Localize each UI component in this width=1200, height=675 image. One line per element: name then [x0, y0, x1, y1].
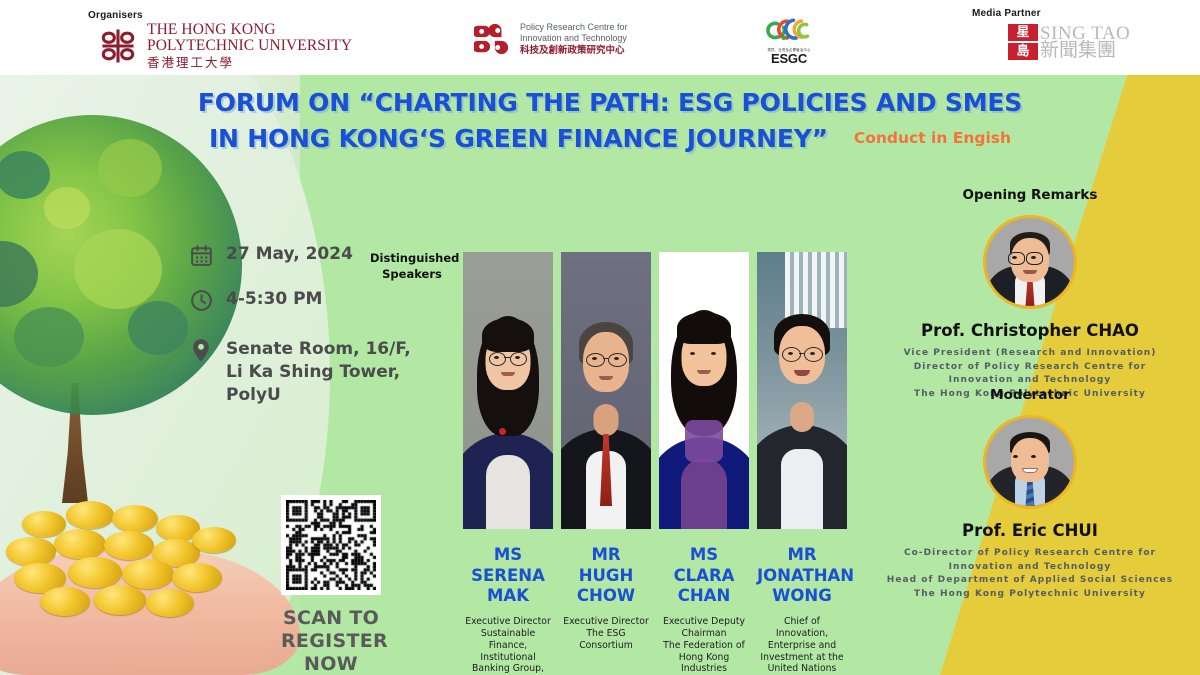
polyu-logo: THE HONG KONG POLYTECHNIC UNIVERSITY 香港理… — [96, 22, 352, 69]
speaker-role: Executive Director Sustainable Finance, … — [463, 616, 553, 675]
singtao-char-island: 島 — [1008, 43, 1038, 60]
moderator-heading: Moderator — [880, 387, 1180, 403]
speaker-last-name: MAK — [463, 586, 553, 607]
registration-block: SCAN TO REGISTER NOW — [281, 495, 381, 675]
speaker-role: Executive Deputy Chairman The Federation… — [659, 616, 749, 675]
title-line-1: FORUM ON “CHARTING THE PATH: ESG POLICIE… — [180, 85, 1040, 121]
event-time: 4-5:30 PM — [226, 285, 322, 311]
speaker-last-name: WONG — [757, 586, 847, 607]
speaker-first-name: CLARA — [659, 566, 749, 587]
speaker-card: MR JONATHAN WONG Chief of Innovation, En… — [757, 252, 847, 675]
clock-icon — [186, 285, 216, 315]
avatar — [983, 415, 1077, 509]
singtao-char-star: 星 — [1008, 24, 1038, 41]
speaker-honorific: MS — [659, 545, 749, 566]
polyu-name-line2: POLYTECHNIC UNIVERSITY — [147, 38, 352, 54]
polyu-name-line1: THE HONG KONG — [147, 22, 352, 38]
singtao-logo: 星 島 SING TAO 新聞集團 — [1008, 24, 1130, 61]
media-partner-label: Media Partner — [972, 8, 1041, 19]
speaker-first-name: JONATHAN — [757, 566, 847, 587]
speaker-card: MS SERENA MAK Executive Director Sustain… — [463, 252, 553, 675]
poster-body: FORUM ON “CHARTING THE PATH: ESG POLICIE… — [0, 75, 1200, 675]
esgc-mark-icon — [766, 14, 812, 46]
title-line-2: IN HONG KONG‘S GREEN FINANCE JOURNEY” — [209, 121, 828, 157]
polyu-mark-icon — [96, 24, 140, 68]
speakers-list: MS SERENA MAK Executive Director Sustain… — [463, 252, 847, 675]
speaker-name: MR JONATHAN WONG — [757, 545, 847, 607]
moderator-section: Moderator Prof. Eric CHUI Co-Director of… — [880, 387, 1180, 602]
speaker-honorific: MR — [561, 545, 651, 566]
speaker-last-name: CHAN — [659, 586, 749, 607]
speaker-photo — [659, 252, 749, 529]
singtao-chinese: 新聞集團 — [1040, 41, 1130, 60]
speaker-card: MR HUGH CHOW Executive Director The ESG … — [561, 252, 651, 675]
prcit-logo: Policy Research Centre for Innovation an… — [474, 22, 628, 57]
organisers-label: Organisers — [88, 10, 143, 21]
prcit-line1: Policy Research Centre for — [520, 22, 628, 33]
prcit-logo-text: Policy Research Centre for Innovation an… — [520, 22, 628, 57]
speaker-name: MS SERENA MAK — [463, 545, 553, 607]
event-date: 27 May, 2024 — [226, 240, 353, 266]
opening-remarks-name: Prof. Christopher CHAO — [880, 321, 1180, 340]
distinguished-speakers-label: Distinguished Speakers — [370, 251, 454, 282]
moderator-role: Co-Director of Policy Research Centre fo… — [880, 547, 1180, 602]
speaker-photo — [757, 252, 847, 529]
singtao-mark-icon: 星 島 — [1008, 24, 1038, 60]
calendar-icon — [186, 240, 216, 270]
location-pin-icon — [186, 335, 216, 365]
avatar — [983, 215, 1077, 309]
speaker-first-name: SERENA — [463, 566, 553, 587]
prcit-line2: Innovation and Technology — [520, 33, 628, 44]
speaker-last-name: CHOW — [561, 586, 651, 607]
opening-remarks-section: Opening Remarks Prof. Christopher CHAO V… — [880, 187, 1180, 402]
language-note: Conduct in Engish — [854, 129, 1011, 147]
qr-code[interactable] — [281, 495, 381, 595]
polyu-name-chinese: 香港理工大學 — [147, 56, 352, 69]
poster-title: FORUM ON “CHARTING THE PATH: ESG POLICIE… — [180, 85, 1040, 156]
event-time-row: 4-5:30 PM — [186, 285, 456, 315]
event-poster: Organisers THE HONG KONG POLYTECHN — [0, 0, 1200, 675]
speaker-photo — [561, 252, 651, 529]
speaker-photo — [463, 252, 553, 529]
speaker-first-name: HUGH — [561, 566, 651, 587]
hand-with-coins-illustration — [0, 445, 310, 675]
speaker-card: MS CLARA CHAN Executive Deputy Chairman … — [659, 252, 749, 675]
esgc-wordmark: ESGC — [771, 52, 807, 65]
event-venue: Senate Room, 16/F, Li Ka Shing Tower, Po… — [226, 335, 456, 406]
singtao-logo-text: SING TAO 新聞集團 — [1040, 24, 1130, 61]
logo-header: Organisers THE HONG KONG POLYTECHN — [0, 0, 1200, 75]
speaker-role: Chief of Innovation, Enterprise and Inve… — [757, 616, 847, 675]
speaker-honorific: MR — [757, 545, 847, 566]
speaker-name: MR HUGH CHOW — [561, 545, 651, 607]
polyu-logo-text: THE HONG KONG POLYTECHNIC UNIVERSITY 香港理… — [147, 22, 352, 69]
prcit-mark-icon — [474, 22, 512, 56]
speaker-name: MS CLARA CHAN — [659, 545, 749, 607]
speaker-honorific: MS — [463, 545, 553, 566]
scan-to-register-caption: SCAN TO REGISTER NOW — [281, 607, 381, 675]
esgc-logo: 環境、社會及企業管治中心 ESGC — [766, 14, 812, 65]
prcit-chinese: 科技及創新政策研究中心 — [520, 45, 628, 57]
speaker-role: Executive Director The ESG Consortium — [561, 616, 651, 652]
event-venue-row: Senate Room, 16/F, Li Ka Shing Tower, Po… — [186, 335, 456, 406]
moderator-name: Prof. Eric CHUI — [880, 521, 1180, 540]
opening-remarks-heading: Opening Remarks — [880, 187, 1180, 203]
